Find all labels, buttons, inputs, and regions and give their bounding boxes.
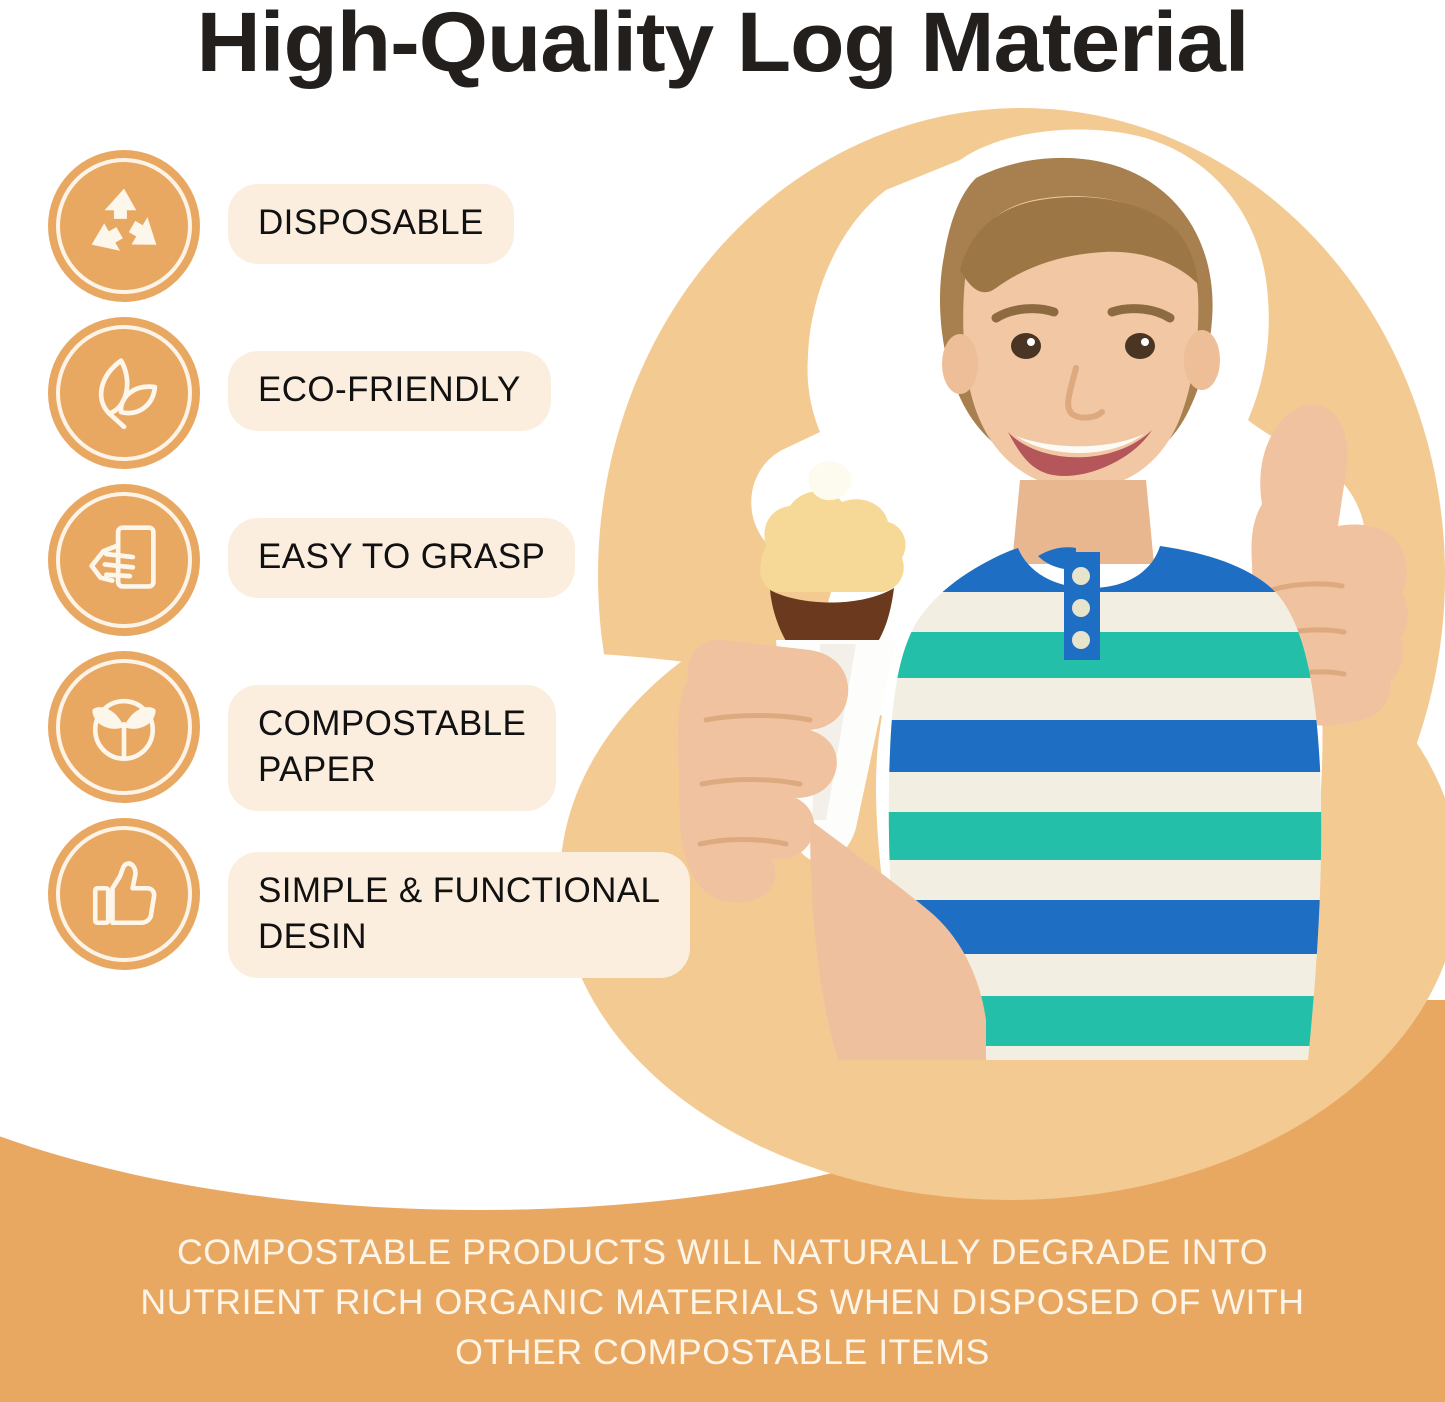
sprout-circle-icon xyxy=(78,681,170,773)
product-photo xyxy=(660,120,1445,1080)
feature-label-easy-to-grasp: EASY TO GRASP xyxy=(228,518,575,598)
feature-badge-eco-friendly xyxy=(48,317,200,469)
shirt-button xyxy=(1072,567,1090,585)
right-eye xyxy=(1125,333,1155,359)
left-eye xyxy=(1011,333,1041,359)
shirt-button xyxy=(1072,631,1090,649)
feature-list: DISPOSABLE ECO-FRIENDLY xyxy=(0,150,720,985)
feature-row-eco-friendly[interactable]: ECO-FRIENDLY xyxy=(0,317,720,484)
page-title: High-Quality Log Material xyxy=(0,0,1445,91)
leaves-icon xyxy=(77,346,171,440)
neck xyxy=(1012,480,1154,564)
feature-badge-simple-functional xyxy=(48,818,200,970)
feature-badge-compostable-paper xyxy=(48,651,200,803)
feature-badge-easy-to-grasp xyxy=(48,484,200,636)
feature-label-eco-friendly: ECO-FRIENDLY xyxy=(228,351,551,431)
thumbs-up-icon xyxy=(78,848,170,940)
feature-row-compostable-paper[interactable]: COMPOSTABLE PAPER xyxy=(0,651,720,818)
feature-row-simple-functional[interactable]: SIMPLE & FUNCTIONAL DESIN xyxy=(0,818,720,985)
hand-holding-cup-icon xyxy=(77,513,171,607)
feature-row-disposable[interactable]: DISPOSABLE xyxy=(0,150,720,317)
feature-label-simple-functional: SIMPLE & FUNCTIONAL DESIN xyxy=(228,852,690,978)
feature-row-easy-to-grasp[interactable]: EASY TO GRASP xyxy=(0,484,720,651)
shirt-button xyxy=(1072,599,1090,617)
footer-caption: COMPOSTABLE PRODUCTS WILL NATURALLY DEGR… xyxy=(0,1228,1445,1378)
feature-label-disposable: DISPOSABLE xyxy=(228,184,514,264)
feature-badge-disposable xyxy=(48,150,200,302)
feature-label-compostable-paper: COMPOSTABLE PAPER xyxy=(228,685,556,811)
recycle-icon xyxy=(78,180,170,272)
